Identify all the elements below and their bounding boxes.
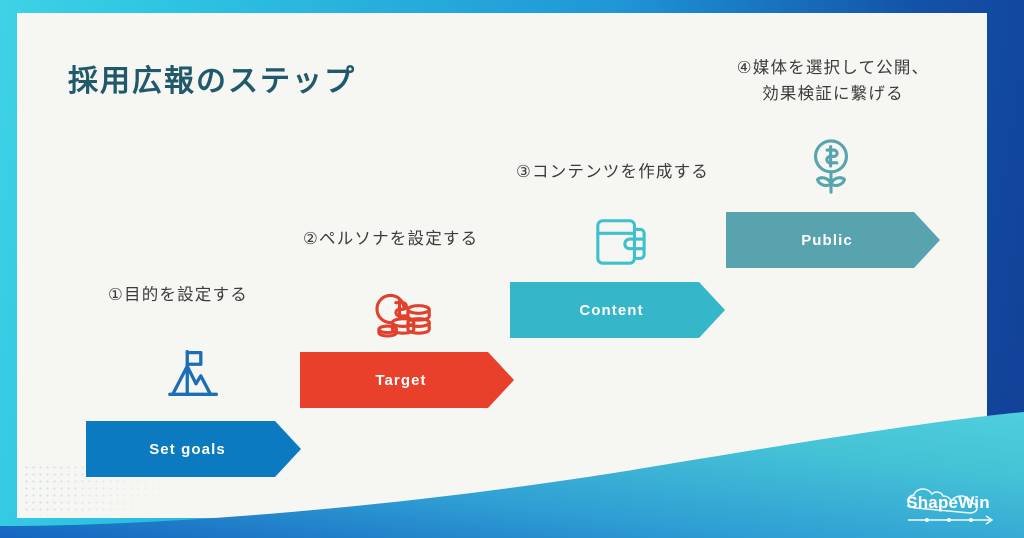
step-2-arrow-label: Target: [375, 372, 426, 389]
page-title: 採用広報のステップ: [68, 56, 356, 100]
step-1-caption: ①目的を設定する: [108, 283, 248, 309]
shapewin-logo: ShapeWin: [894, 484, 1002, 530]
step-4-arrow-label: Public: [801, 232, 853, 249]
step-3-caption: ③コンテンツを作成する: [516, 160, 709, 186]
step-4-caption-line1: ④媒体を選択して公開、: [718, 56, 948, 82]
step-3-arrow-label: Content: [579, 302, 643, 319]
step-4-caption: ④媒体を選択して公開、 効果検証に繋げる: [718, 56, 948, 107]
step-2-caption: ②ペルソナを設定する: [303, 227, 478, 253]
step-1-arrow[interactable]: Set goals: [86, 421, 301, 477]
logo-text: ShapeWin: [894, 493, 1002, 513]
step-4-arrow[interactable]: Public: [726, 212, 940, 268]
slide-root: 採用広報のステップ ①目的を設定する Set goals ②ペルソナを設定する: [0, 0, 1024, 538]
step-1-arrow-label: Set goals: [149, 441, 226, 458]
step-4-caption-line2: 効果検証に繋げる: [718, 82, 948, 108]
step-2-arrow[interactable]: Target: [300, 352, 514, 408]
step-3-arrow[interactable]: Content: [510, 282, 725, 338]
